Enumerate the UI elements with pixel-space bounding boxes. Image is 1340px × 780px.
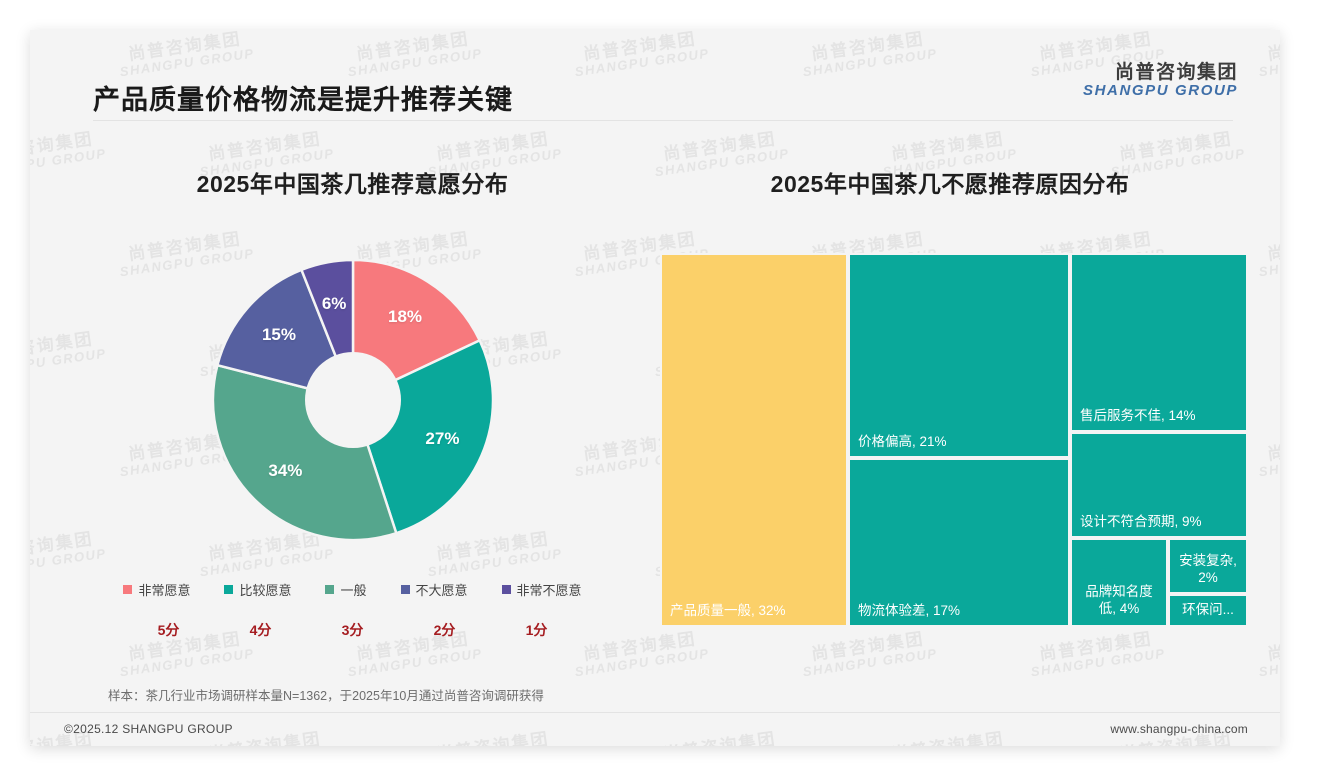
legend-item[interactable]: 不大愿意 xyxy=(401,580,468,599)
treemap-cell-label-line1: 品牌知名度 xyxy=(1085,584,1153,599)
donut-hole xyxy=(305,352,401,448)
treemap-cell-poor-logistics[interactable]: 物流体验差, 17% xyxy=(848,458,1070,627)
watermark-mark: 尚普咨询集团SHANGPU GROUP xyxy=(1255,229,1280,279)
score-label: 1分 xyxy=(491,620,583,640)
legend-item-label: 非常不愿意 xyxy=(517,580,582,599)
treemap-cell-label-line1: 安装复杂, xyxy=(1179,553,1237,568)
treemap-cell-label-line2: 2% xyxy=(1198,570,1218,585)
treemap-cell-label: 产品质量一般, 32% xyxy=(670,603,842,620)
slide-footer: ©2025.12 SHANGPU GROUP www.shangpu-china… xyxy=(30,713,1280,746)
legend-swatch-icon xyxy=(325,585,334,594)
treemap-cell-label-line2: 低, 4% xyxy=(1099,601,1140,616)
donut-chart-title: 2025年中国茶几推荐意愿分布 xyxy=(70,165,635,199)
treemap-cell-label: 环保问... xyxy=(1172,602,1244,619)
treemap-chart-title: 2025年中国茶几不愿推荐原因分布 xyxy=(650,165,1250,199)
watermark-mark: 尚普咨询集团SHANGPU GROUP xyxy=(1255,429,1280,479)
logo-english-text: SHANGPU GROUP xyxy=(1083,83,1238,100)
legend-item-label: 比较愿意 xyxy=(239,580,291,599)
company-logo: 尚普咨询集团 SHANGPU GROUP xyxy=(1083,62,1238,100)
treemap-cell-low-brand-awareness[interactable]: 品牌知名度 低, 4% xyxy=(1070,538,1168,627)
watermark-mark: 尚普咨询集团SHANGPU GROUP xyxy=(1255,629,1280,679)
treemap-cell-label: 设计不符合预期, 9% xyxy=(1080,514,1242,531)
copyright-text: ©2025.12 SHANGPU GROUP xyxy=(64,722,233,736)
donut-svg xyxy=(188,235,518,565)
score-label: 2分 xyxy=(399,620,491,640)
legend-item[interactable]: 比较愿意 xyxy=(224,580,291,599)
treemap-cell-label: 品牌知名度 低, 4% xyxy=(1074,584,1164,618)
legend-swatch-icon xyxy=(123,585,132,594)
legend-swatch-icon xyxy=(401,585,410,594)
donut-chart-panel: 2025年中国茶几推荐意愿分布 18%27%34%15%6% 非常愿意比较愿意一… xyxy=(70,165,635,710)
sample-footnote: 样本：茶几行业市场调研样本量N=1362，于2025年10月通过尚普咨询调研获得 xyxy=(108,685,544,704)
score-label: 4分 xyxy=(215,620,307,640)
treemap-cell-environmental-issue[interactable]: 环保问... xyxy=(1168,594,1248,627)
legend-item-label: 非常愿意 xyxy=(138,580,190,599)
legend-item-label: 不大愿意 xyxy=(416,580,468,599)
treemap-chart-panel: 2025年中国茶几不愿推荐原因分布 产品质量一般, 32% 价格偏高, 21% … xyxy=(650,165,1250,710)
donut-legend: 非常愿意比较愿意一般不大愿意非常不愿意 xyxy=(70,580,635,599)
treemap-cell-design-mismatch[interactable]: 设计不符合预期, 9% xyxy=(1070,432,1248,538)
treemap-cell-after-sales[interactable]: 售后服务不佳, 14% xyxy=(1070,253,1248,432)
page-title: 产品质量价格物流是提升推荐关键 xyxy=(93,78,513,117)
treemap-cell-high-price[interactable]: 价格偏高, 21% xyxy=(848,253,1070,458)
treemap-cell-product-quality[interactable]: 产品质量一般, 32% xyxy=(660,253,848,627)
treemap-cell-label: 售后服务不佳, 14% xyxy=(1080,408,1242,425)
treemap-cell-label: 价格偏高, 21% xyxy=(858,434,1064,451)
treemap-cell-label: 物流体验差, 17% xyxy=(858,603,1064,620)
treemap-cell-complex-installation[interactable]: 安装复杂, 2% xyxy=(1168,538,1248,594)
legend-item[interactable]: 非常不愿意 xyxy=(502,580,582,599)
treemap-chart: 产品质量一般, 32% 价格偏高, 21% 物流体验差, 17% 售后服务不佳,… xyxy=(660,253,1248,627)
treemap-cell-label: 安装复杂, 2% xyxy=(1172,553,1244,587)
legend-swatch-icon xyxy=(502,585,511,594)
logo-chinese-text: 尚普咨询集团 xyxy=(1083,62,1238,83)
slide-header: 产品质量价格物流是提升推荐关键 尚普咨询集团 SHANGPU GROUP xyxy=(30,30,1280,120)
header-divider xyxy=(93,120,1233,121)
donut-chart xyxy=(70,235,635,565)
legend-swatch-icon xyxy=(224,585,233,594)
slide-card: 尚普咨询集团SHANGPU GROUP尚普咨询集团SHANGPU GROUP尚普… xyxy=(30,30,1280,746)
score-label: 3分 xyxy=(307,620,399,640)
legend-item-label: 一般 xyxy=(340,580,366,599)
legend-item[interactable]: 非常愿意 xyxy=(123,580,190,599)
legend-item[interactable]: 一般 xyxy=(325,580,366,599)
website-link[interactable]: www.shangpu-china.com xyxy=(1110,722,1248,736)
score-label: 5分 xyxy=(123,620,215,640)
score-scale-row: 5分4分3分2分1分 xyxy=(70,620,635,640)
